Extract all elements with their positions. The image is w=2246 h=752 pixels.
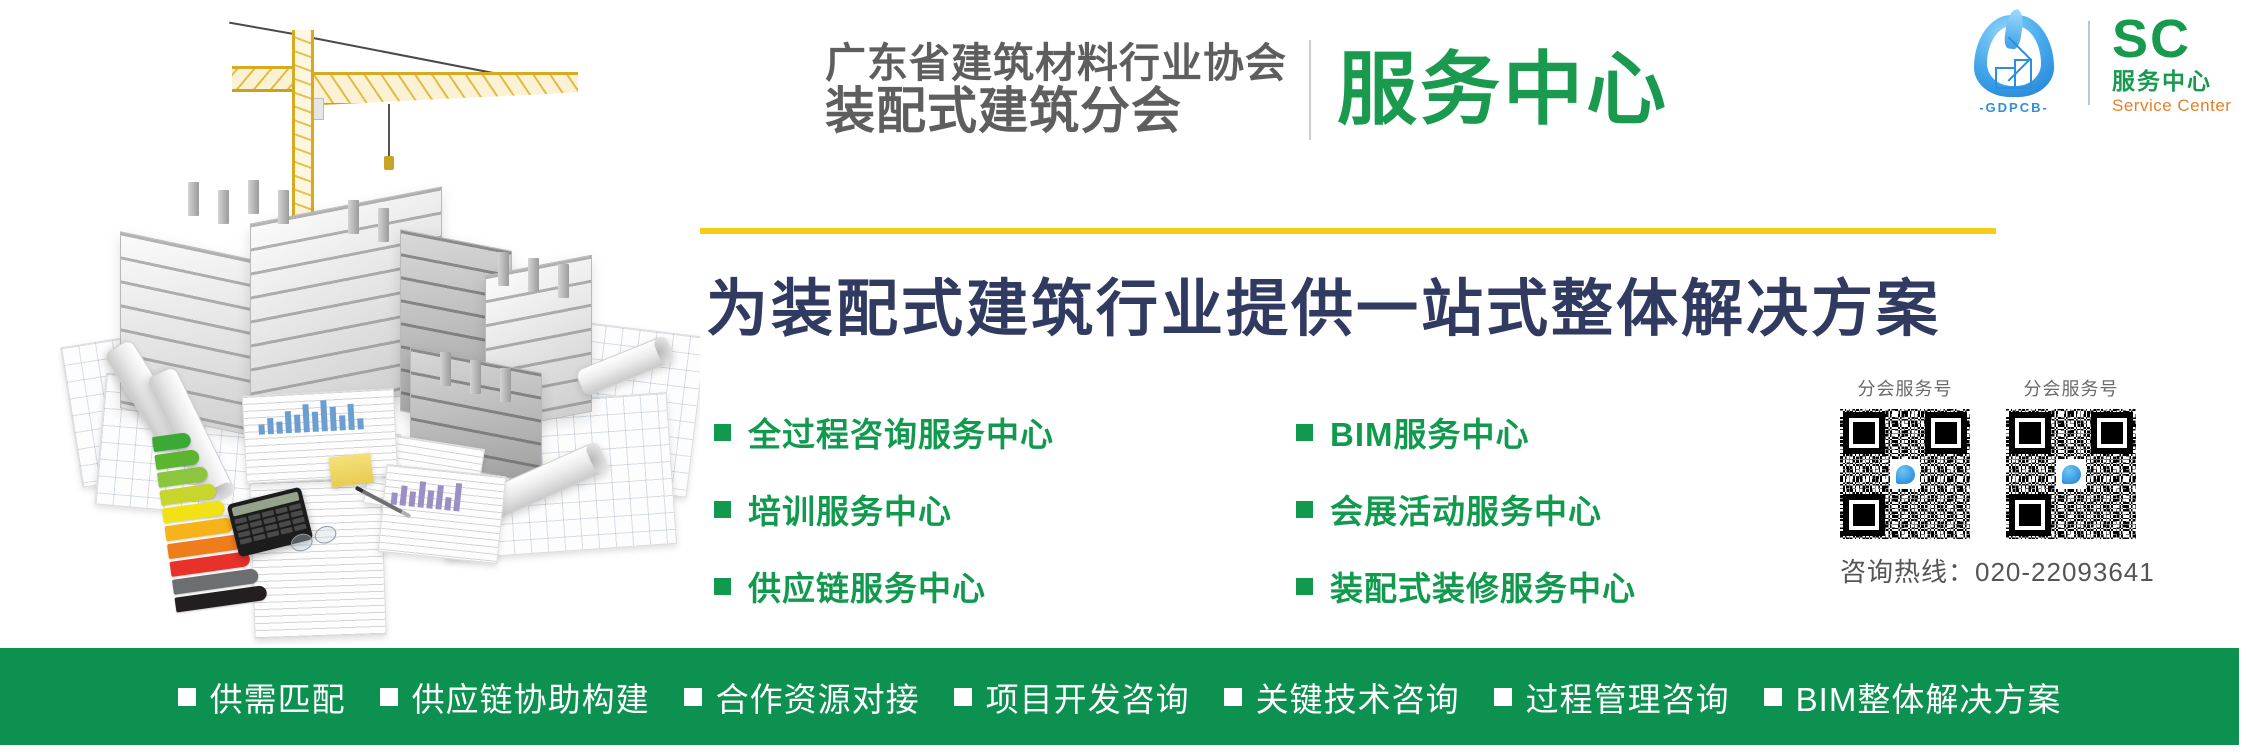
brand-name-en: Service Center xyxy=(2112,97,2231,114)
service-item[interactable]: 培训服务中心 xyxy=(714,485,1054,533)
rebar-column xyxy=(440,352,451,386)
qr-contact-block: 分会服务号 分会服务号 xyxy=(1840,375,2240,589)
footer-item[interactable]: 关键技术咨询 xyxy=(1224,673,1460,721)
hero-canvas xyxy=(0,0,700,645)
hero-construction-image xyxy=(0,0,700,645)
promo-banner: -GDPCB- SC 服务中心 Service Center 广东省建筑材料行业… xyxy=(0,0,2246,752)
organisation-names: 广东省建筑材料行业协会 装配式建筑分会 xyxy=(825,42,1287,138)
qr-code-image[interactable] xyxy=(1840,409,1970,539)
title-divider xyxy=(1309,40,1311,140)
footer-item-label: 合作资源对接 xyxy=(716,673,920,721)
service-item-label: 培训服务中心 xyxy=(748,485,952,533)
content-area: -GDPCB- SC 服务中心 Service Center 广东省建筑材料行业… xyxy=(700,0,2246,645)
rebar-column xyxy=(348,200,359,234)
service-item-label: 全过程咨询服务中心 xyxy=(748,408,1054,456)
tagline: 为装配式建筑行业提供一站式整体解决方案 xyxy=(706,258,1941,348)
square-bullet-icon xyxy=(684,688,702,706)
organisation-title: 广东省建筑材料行业协会 装配式建筑分会 服务中心 xyxy=(825,40,1669,140)
rebar-column xyxy=(278,190,289,224)
gdpcb-flame-house-icon: -GDPCB- xyxy=(1962,13,2066,113)
footer-item[interactable]: 项目开发咨询 xyxy=(954,673,1190,721)
service-item-label: BIM服务中心 xyxy=(1330,408,1530,456)
footer-item-label: 项目开发咨询 xyxy=(986,673,1190,721)
rebar-column xyxy=(218,190,229,224)
square-bullet-icon xyxy=(1224,688,1242,706)
brand-text: SC 服务中心 Service Center xyxy=(2112,12,2231,114)
brand-logo: -GDPCB- SC 服务中心 Service Center xyxy=(1962,12,2231,114)
service-item[interactable]: 装配式装修服务中心 xyxy=(1296,562,1636,610)
hotline-text: 咨询热线：020-22093641 xyxy=(1840,552,2240,589)
qr-center-logo-icon xyxy=(1890,459,1920,489)
square-bullet-icon xyxy=(714,578,731,595)
qr-card[interactable]: 分会服务号 xyxy=(1840,375,1970,539)
qr-label: 分会服务号 xyxy=(1840,375,1970,401)
footer-item-label: 过程管理咨询 xyxy=(1526,673,1730,721)
square-bullet-icon xyxy=(380,688,398,706)
brand-divider xyxy=(2088,21,2090,105)
service-item-label: 供应链服务中心 xyxy=(748,562,986,610)
crane-hook-icon xyxy=(388,104,390,156)
service-center-heading: 服务中心 xyxy=(1337,50,1669,130)
square-bullet-icon xyxy=(1296,578,1313,595)
rebar-column xyxy=(500,368,511,402)
square-bullet-icon xyxy=(714,424,731,441)
rebar-column xyxy=(528,258,539,292)
brand-abbr: SC xyxy=(2112,12,2231,66)
gdpcb-caption: -GDPCB- xyxy=(1962,100,2066,115)
square-bullet-icon xyxy=(178,688,196,706)
qr-center-logo-icon xyxy=(2056,459,2086,489)
gold-divider-rule xyxy=(700,228,1996,234)
organisation-line-1: 广东省建筑材料行业协会 xyxy=(825,42,1287,85)
qr-label: 分会服务号 xyxy=(2006,375,2136,401)
qr-card[interactable]: 分会服务号 xyxy=(2006,375,2136,539)
rebar-column xyxy=(188,182,199,216)
rebar-column xyxy=(498,252,509,286)
square-bullet-icon xyxy=(714,501,731,518)
square-bullet-icon xyxy=(1764,688,1782,706)
footer-item[interactable]: 合作资源对接 xyxy=(684,673,920,721)
footer-item[interactable]: 供需匹配 xyxy=(178,673,346,721)
square-bullet-icon xyxy=(1296,501,1313,518)
square-bullet-icon xyxy=(1296,424,1313,441)
service-item[interactable]: BIM服务中心 xyxy=(1296,408,1636,456)
service-item[interactable]: 全过程咨询服务中心 xyxy=(714,408,1054,456)
service-item-label: 装配式装修服务中心 xyxy=(1330,562,1636,610)
service-list-right: BIM服务中心 会展活动服务中心 装配式装修服务中心 xyxy=(1296,408,1636,639)
qr-code-image[interactable] xyxy=(2006,409,2136,539)
footer-service-bar: 供需匹配 供应链协助构建 合作资源对接 项目开发咨询 关键技术咨询 过程管理咨询… xyxy=(0,648,2239,745)
square-bullet-icon xyxy=(954,688,972,706)
crane-jib-icon xyxy=(300,72,578,106)
rebar-column xyxy=(378,208,389,242)
service-item-label: 会展活动服务中心 xyxy=(1330,485,1602,533)
footer-item[interactable]: 过程管理咨询 xyxy=(1494,673,1730,721)
rebar-column xyxy=(248,180,259,214)
qr-code-pair: 分会服务号 分会服务号 xyxy=(1840,375,2240,539)
rebar-column xyxy=(470,360,481,394)
sticky-note xyxy=(328,453,373,488)
footer-item-label: 供应链协助构建 xyxy=(412,673,650,721)
organisation-line-2: 装配式建筑分会 xyxy=(825,85,1287,138)
square-bullet-icon xyxy=(1494,688,1512,706)
service-list-left: 全过程咨询服务中心 培训服务中心 供应链服务中心 xyxy=(714,408,1054,639)
service-item[interactable]: 供应链服务中心 xyxy=(714,562,1054,610)
rebar-column xyxy=(558,264,569,298)
footer-item-label: 关键技术咨询 xyxy=(1256,673,1460,721)
service-item[interactable]: 会展活动服务中心 xyxy=(1296,485,1636,533)
bar-chart-graphic xyxy=(257,395,364,434)
footer-item[interactable]: BIM整体解决方案 xyxy=(1764,673,2062,721)
brand-name-cn: 服务中心 xyxy=(2112,70,2231,93)
footer-item-label: 供需匹配 xyxy=(210,673,346,721)
footer-item-label: BIM整体解决方案 xyxy=(1796,673,2062,721)
footer-item[interactable]: 供应链协助构建 xyxy=(380,673,650,721)
